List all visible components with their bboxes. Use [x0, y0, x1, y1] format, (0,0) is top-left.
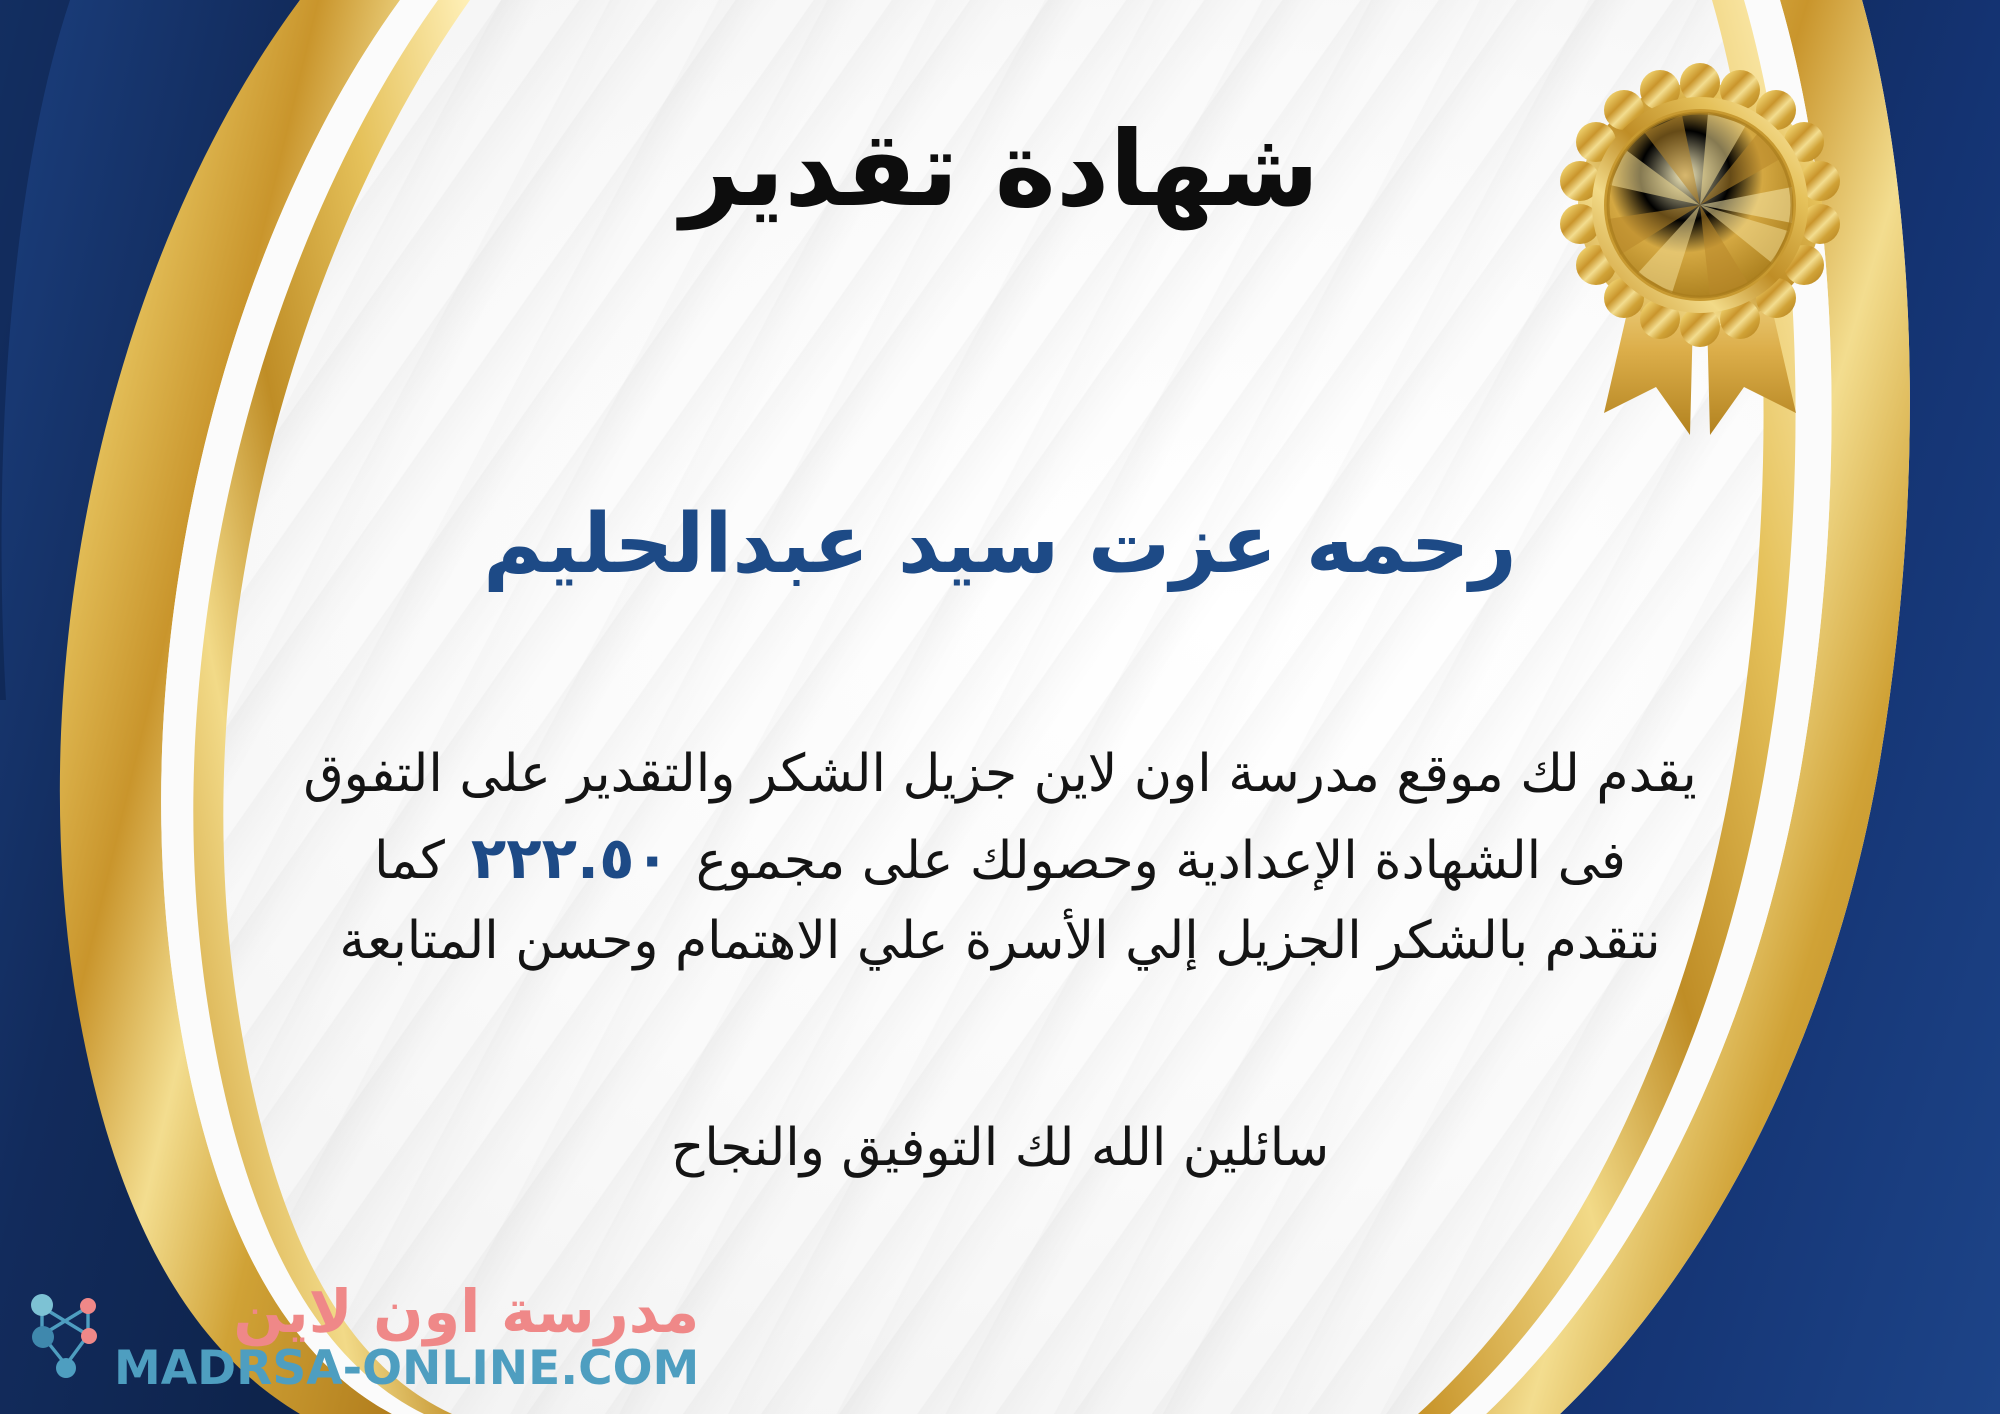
page-title: شهادة تقدير: [0, 112, 2000, 226]
body-line-1: يقدم لك موقع مدرسة اون لاين جزيل الشكر و…: [60, 735, 1940, 814]
site-logo[interactable]: مدرسة اون لاين MADRSA-ONLINE.COM: [26, 1282, 699, 1392]
body-line-3: نتقدم بالشكر الجزيل إلي الأسرة علي الاهت…: [60, 902, 1940, 981]
body-line-2: فى الشهادة الإعدادية وحصولك على مجموع٢٢٢…: [60, 814, 1940, 902]
logo-text-block: مدرسة اون لاين MADRSA-ONLINE.COM: [114, 1282, 699, 1392]
recipient-name: رحمه عزت سيد عبدالحليم: [0, 498, 2000, 592]
logo-arabic-name: مدرسة اون لاين: [233, 1282, 699, 1341]
certificate-canvas: شهادة تقدير رحمه عزت سيد عبدالحليم يقدم …: [0, 0, 2000, 1414]
network-nodes-icon: [26, 1291, 104, 1383]
logo-domain: MADRSA-ONLINE.COM: [114, 1345, 699, 1392]
closing-text: سائلين الله لك التوفيق والنجاح: [0, 1112, 2000, 1185]
certificate-content: شهادة تقدير رحمه عزت سيد عبدالحليم يقدم …: [0, 0, 2000, 1414]
body-line-2-before: فى الشهادة الإعدادية وحصولك على مجموع: [696, 831, 1626, 891]
certificate-body: يقدم لك موقع مدرسة اون لاين جزيل الشكر و…: [60, 735, 1940, 981]
body-line-2-after: كما: [374, 831, 445, 891]
grade-value: ٢٢٢.٥٠: [445, 824, 696, 892]
